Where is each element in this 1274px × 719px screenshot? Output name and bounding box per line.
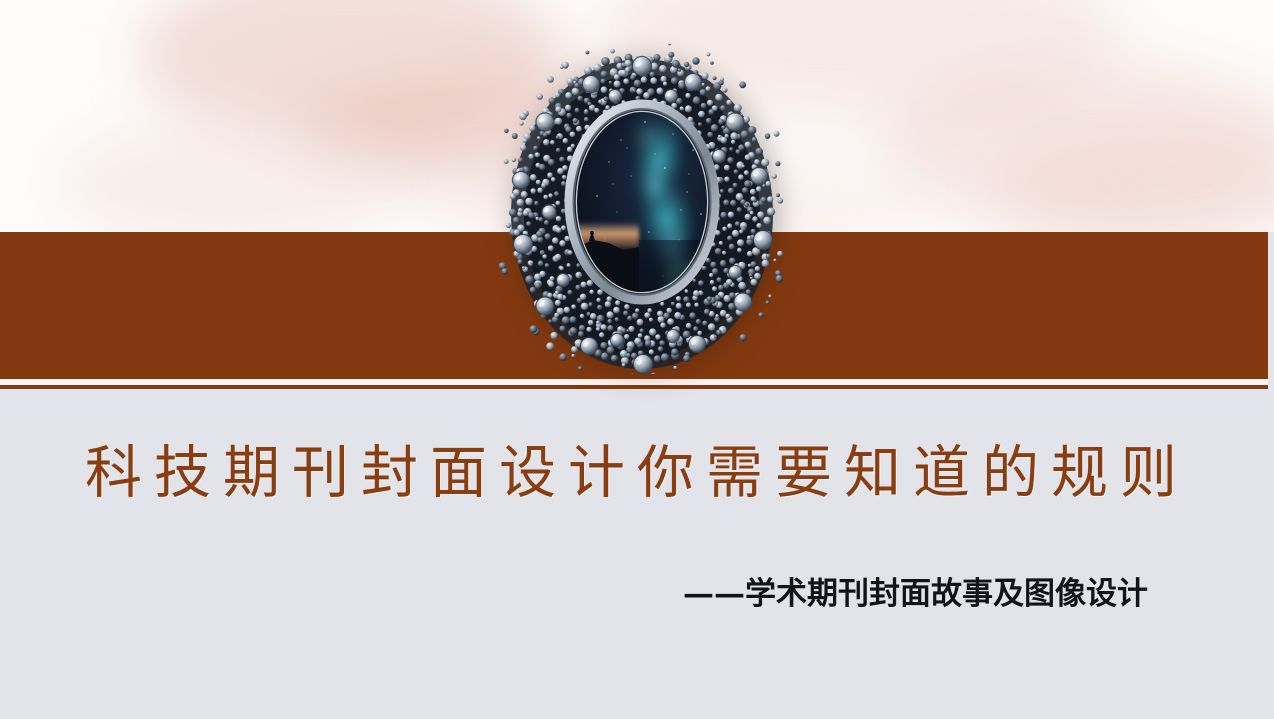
pearl-brooch-ornament: [497, 44, 787, 374]
page-subtitle: ——学术期刊封面故事及图像设计: [0, 572, 1148, 616]
right-edge-sliver: [1268, 232, 1274, 389]
brown-divider-rule: [0, 385, 1268, 389]
watercolor-wash: [60, 120, 400, 250]
ornament-artwork: [497, 44, 787, 374]
slide-canvas: 科技期刊封面设计你需要知道的规则 ——学术期刊封面故事及图像设计: [0, 0, 1274, 719]
watercolor-wash: [880, 60, 1274, 230]
page-title: 科技期刊封面设计你需要知道的规则: [0, 437, 1274, 509]
